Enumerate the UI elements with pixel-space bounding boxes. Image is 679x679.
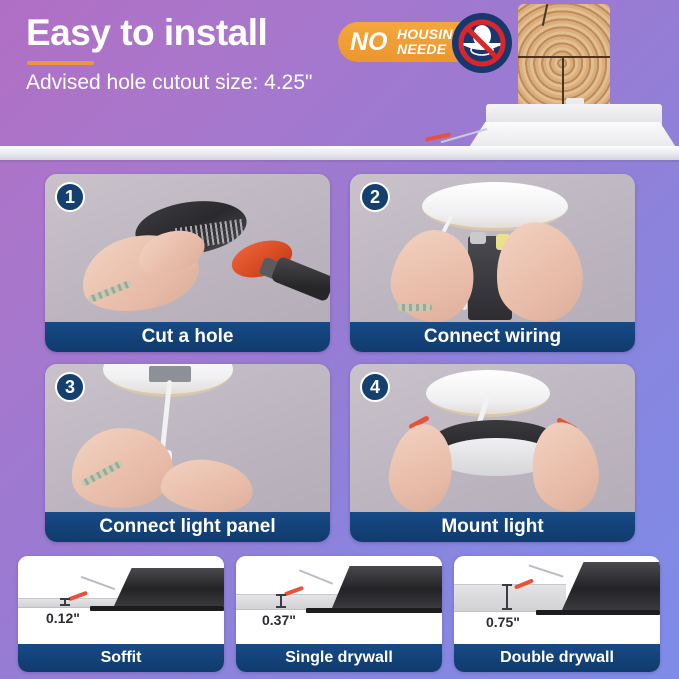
- bracelet-art: [398, 304, 432, 311]
- step-caption: Connect wiring: [350, 322, 635, 352]
- wood-joist-icon: [518, 4, 610, 110]
- clip-arm: [81, 576, 116, 590]
- fixture-body-art: [562, 562, 660, 610]
- clip-arm: [299, 569, 333, 584]
- badge-no-text: NO: [350, 28, 388, 56]
- title-underline-accent: [27, 61, 94, 65]
- step-number-badge: 2: [360, 182, 390, 212]
- measurement-value: 0.12": [46, 610, 80, 626]
- measurement-value: 0.75": [486, 614, 520, 630]
- hero-subtitle: Advised hole cutout size: 4.25": [26, 71, 312, 95]
- no-housing-prohibited-icon: [452, 13, 512, 73]
- measure-panel-single-drywall[interactable]: 0.37" Single drywall: [236, 556, 442, 672]
- ceiling-band: [0, 146, 679, 160]
- step-photo-mount-light: [350, 364, 635, 512]
- page-title: Easy to install: [26, 12, 267, 54]
- soffit-cross-section-icon: 0.12": [18, 556, 224, 644]
- step-caption: Mount light: [350, 512, 635, 542]
- wire-connector-art: [470, 232, 486, 244]
- step-card-3[interactable]: 3 Connect light panel: [45, 364, 330, 542]
- hero-section: Easy to install Advised hole cutout size…: [0, 0, 679, 168]
- step-photo-connect-wiring: [350, 174, 635, 322]
- step-photo-cut-a-hole: [45, 174, 330, 322]
- measure-caption: Double drywall: [454, 644, 660, 672]
- installation-steps: 1 Cut a hole 2 Connect wiring: [45, 174, 635, 552]
- step-number-badge: 3: [55, 372, 85, 402]
- single-drywall-cross-section-icon: 0.37": [236, 556, 442, 644]
- fixture-body-art: [114, 568, 224, 606]
- clip-arm: [529, 564, 564, 577]
- fixture-flange-art: [306, 608, 442, 613]
- fixture-flange-art: [90, 606, 224, 611]
- step-card-1[interactable]: 1 Cut a hole: [45, 174, 330, 352]
- wood-crack: [562, 58, 564, 110]
- infographic-page: Easy to install Advised hole cutout size…: [0, 0, 679, 679]
- measure-caption: Single drywall: [236, 644, 442, 672]
- dimension-marker: [506, 584, 508, 610]
- drill-body-art: [270, 256, 330, 303]
- step-card-2[interactable]: 2 Connect wiring: [350, 174, 635, 352]
- double-drywall-cross-section-icon: 0.75": [454, 556, 660, 644]
- wood-crack: [518, 56, 610, 58]
- fixture-flange-art: [536, 610, 660, 615]
- dimension-marker: [64, 598, 66, 606]
- measure-caption: Soffit: [18, 644, 224, 672]
- step-caption: Cut a hole: [45, 322, 330, 352]
- step-card-4[interactable]: 4 Mount light: [350, 364, 635, 542]
- step-number-badge: 4: [360, 372, 390, 402]
- measurement-value: 0.37": [262, 612, 296, 628]
- dimension-marker: [280, 594, 282, 608]
- step-number-badge: 1: [55, 182, 85, 212]
- step-photo-connect-light-panel: [45, 364, 330, 512]
- ceiling-edge-line: [0, 160, 679, 162]
- measure-panel-soffit[interactable]: 0.12" Soffit: [18, 556, 224, 672]
- spring-clip-icon: [425, 128, 487, 146]
- step-caption: Connect light panel: [45, 512, 330, 542]
- ceiling-thickness-panels: 0.12" Soffit 0.37" Single drywall: [18, 556, 661, 672]
- fixture-body-art: [332, 566, 442, 608]
- measure-panel-double-drywall[interactable]: 0.75" Double drywall: [454, 556, 660, 672]
- right-hand-art: [159, 455, 256, 512]
